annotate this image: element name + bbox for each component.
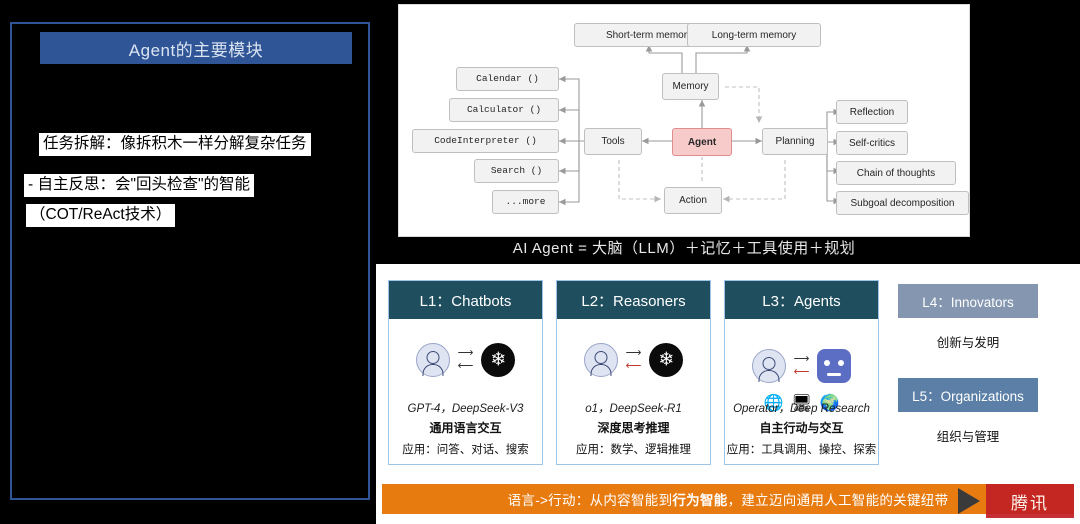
level-apps-l2: 应用：数学、逻辑推理 xyxy=(557,441,710,457)
panel-title: Agent的主要模块 xyxy=(40,32,352,64)
person-icon xyxy=(752,349,786,383)
node-agent: Agent xyxy=(672,128,732,156)
level-label-l4: 创新与发明 xyxy=(898,332,1038,351)
node-subgoal-decomposition: Subgoal decomposition xyxy=(836,191,969,215)
person-icon xyxy=(584,343,618,377)
node-code-interpreter: CodeInterpreter () xyxy=(412,129,559,153)
level-sub-l1: 通用语言交互 xyxy=(389,419,542,436)
banner-suffix: ，建立迈向通用人工智能的关键纽带 xyxy=(728,489,949,509)
level-head-l4: L4：Innovators xyxy=(898,284,1038,318)
watermark-logo: 腾讯 xyxy=(986,484,1074,518)
level-head-l2: L2：Reasoners xyxy=(557,281,710,319)
node-long-term-memory: Long-term memory xyxy=(687,23,821,47)
banner-prefix: 语言->行动：从内容智能到 xyxy=(508,489,673,509)
module-line-2: - 自主反思：会"回头检查"的智能 xyxy=(24,174,254,197)
level-label-l5: 组织与管理 xyxy=(898,426,1038,445)
gpt-icon xyxy=(481,343,515,377)
node-self-critics: Self-critics xyxy=(836,131,908,155)
level-apps-l3: 应用：工具调用、操控、探索 xyxy=(725,441,878,457)
banner-bold: 行为智能 xyxy=(672,489,727,509)
agent-modules-panel: Agent的主要模块 任务拆解：像拆积木一样分解复杂任务 - 自主反思：会"回头… xyxy=(10,22,370,500)
level-sub-l3: 自主行动与交互 xyxy=(725,419,878,436)
node-chain-of-thoughts: Chain of thoughts xyxy=(836,161,956,185)
level-head-l3: L3：Agents xyxy=(725,281,878,319)
level-head-l1: L1：Chatbots xyxy=(389,281,542,319)
node-calendar: Calendar () xyxy=(456,67,559,91)
node-more: ...more xyxy=(492,190,559,214)
exchange-arrows-icon: ⟶⟵ xyxy=(458,348,474,372)
node-tools: Tools xyxy=(584,128,642,155)
level-model-l3: Operator，Deep Research xyxy=(725,400,878,416)
l2-icons: ⟶⟵ xyxy=(557,343,710,377)
robot-icon xyxy=(817,349,851,383)
level-model-l2: o1，DeepSeek-R1 xyxy=(557,400,710,416)
node-planning: Planning xyxy=(762,128,828,155)
node-search: Search () xyxy=(474,159,559,183)
agent-architecture-diagram: Short-term memory Long-term memory Memor… xyxy=(398,4,970,237)
module-line-3: （COT/ReAct技术） xyxy=(26,204,175,227)
level-column-l3: L3：Agents ⟶⟵ 🌐 🖥 🌍 Operator，Deep Researc… xyxy=(724,280,879,465)
exchange-arrows-icon: ⟶⟵ xyxy=(626,348,642,372)
person-icon xyxy=(416,343,450,377)
level-head-l5: L5：Organizations xyxy=(898,378,1038,412)
node-action: Action xyxy=(664,187,722,214)
level-sub-l2: 深度思考推理 xyxy=(557,419,710,436)
l1-icons: ⟶⟵ xyxy=(389,343,542,377)
gpt-icon xyxy=(649,343,683,377)
agi-levels-panel: L1：Chatbots ⟶⟵ GPT-4，DeepSeek-V3 通用语言交互 … xyxy=(376,264,1080,524)
level-column-l2: L2：Reasoners ⟶⟵ o1，DeepSeek-R1 深度思考推理 应用… xyxy=(556,280,711,465)
level-model-l1: GPT-4，DeepSeek-V3 xyxy=(389,400,542,416)
diagram-caption: AI Agent = 大脑（LLM）＋记忆＋工具使用＋规划 xyxy=(398,237,970,258)
node-calculator: Calculator () xyxy=(449,98,559,122)
level-apps-l1: 应用：问答、对话、搜索 xyxy=(389,441,542,457)
level-column-l1: L1：Chatbots ⟶⟵ GPT-4，DeepSeek-V3 通用语言交互 … xyxy=(388,280,543,465)
module-line-1: 任务拆解：像拆积木一样分解复杂任务 xyxy=(39,133,311,156)
l3-icons: ⟶⟵ xyxy=(725,349,878,383)
node-reflection: Reflection xyxy=(836,100,908,124)
play-triangle-icon xyxy=(958,488,980,514)
exchange-arrows-icon: ⟶⟵ xyxy=(794,354,810,378)
node-memory: Memory xyxy=(662,73,719,100)
